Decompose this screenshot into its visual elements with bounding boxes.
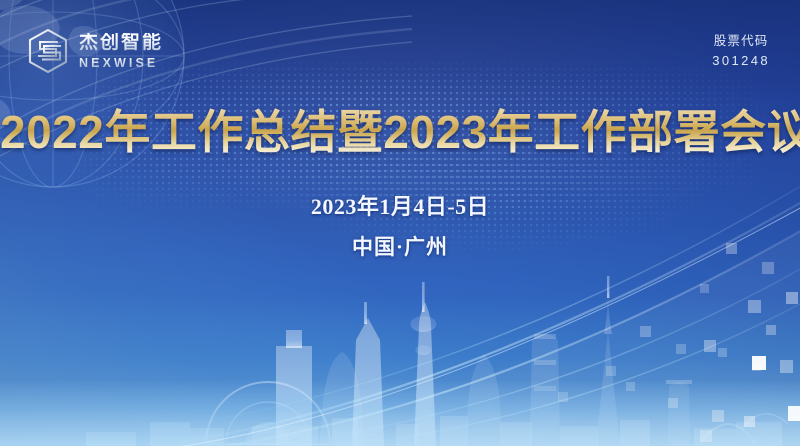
page-title: 2022年工作总结暨2023年工作部署会议 (0, 96, 800, 162)
brand-logo-text: 杰创智能 NEXWISE (79, 33, 163, 70)
floating-square-11 (780, 360, 793, 373)
floating-square-16 (744, 416, 755, 427)
floating-square-13 (752, 356, 766, 370)
stock-code-block: 股票代码 301248 (712, 33, 770, 69)
floating-square-8 (704, 340, 716, 352)
stock-code-value: 301248 (712, 52, 770, 70)
floating-square-6 (640, 326, 651, 337)
floating-square-14 (788, 406, 800, 421)
nexwise-cube-logo-icon (26, 28, 70, 74)
event-date: 2023年1月4日-5日 (0, 189, 800, 221)
floating-square-1 (762, 262, 774, 274)
brand-name-cn: 杰创智能 (79, 33, 163, 52)
floating-square-19 (558, 392, 568, 402)
brand-logo: 杰创智能 NEXWISE (26, 28, 163, 74)
floating-square-7 (676, 344, 686, 354)
slide-canvas: 杰创智能 NEXWISE 股票代码 301248 2022年工作总结暨2023年… (0, 0, 800, 446)
floating-square-17 (668, 398, 678, 408)
floating-square-3 (748, 300, 761, 313)
floating-square-9 (718, 348, 727, 357)
floating-square-2 (700, 284, 709, 293)
floating-square-18 (626, 382, 635, 391)
stock-code-label: 股票代码 (712, 33, 770, 50)
floating-square-10 (606, 366, 616, 376)
floating-square-15 (712, 410, 724, 422)
floating-square-20 (700, 430, 712, 442)
brand-name-en: NEXWISE (79, 57, 163, 70)
floating-square-5 (766, 325, 776, 335)
event-location: 中国·广州 (0, 231, 800, 261)
floating-square-4 (786, 292, 798, 304)
